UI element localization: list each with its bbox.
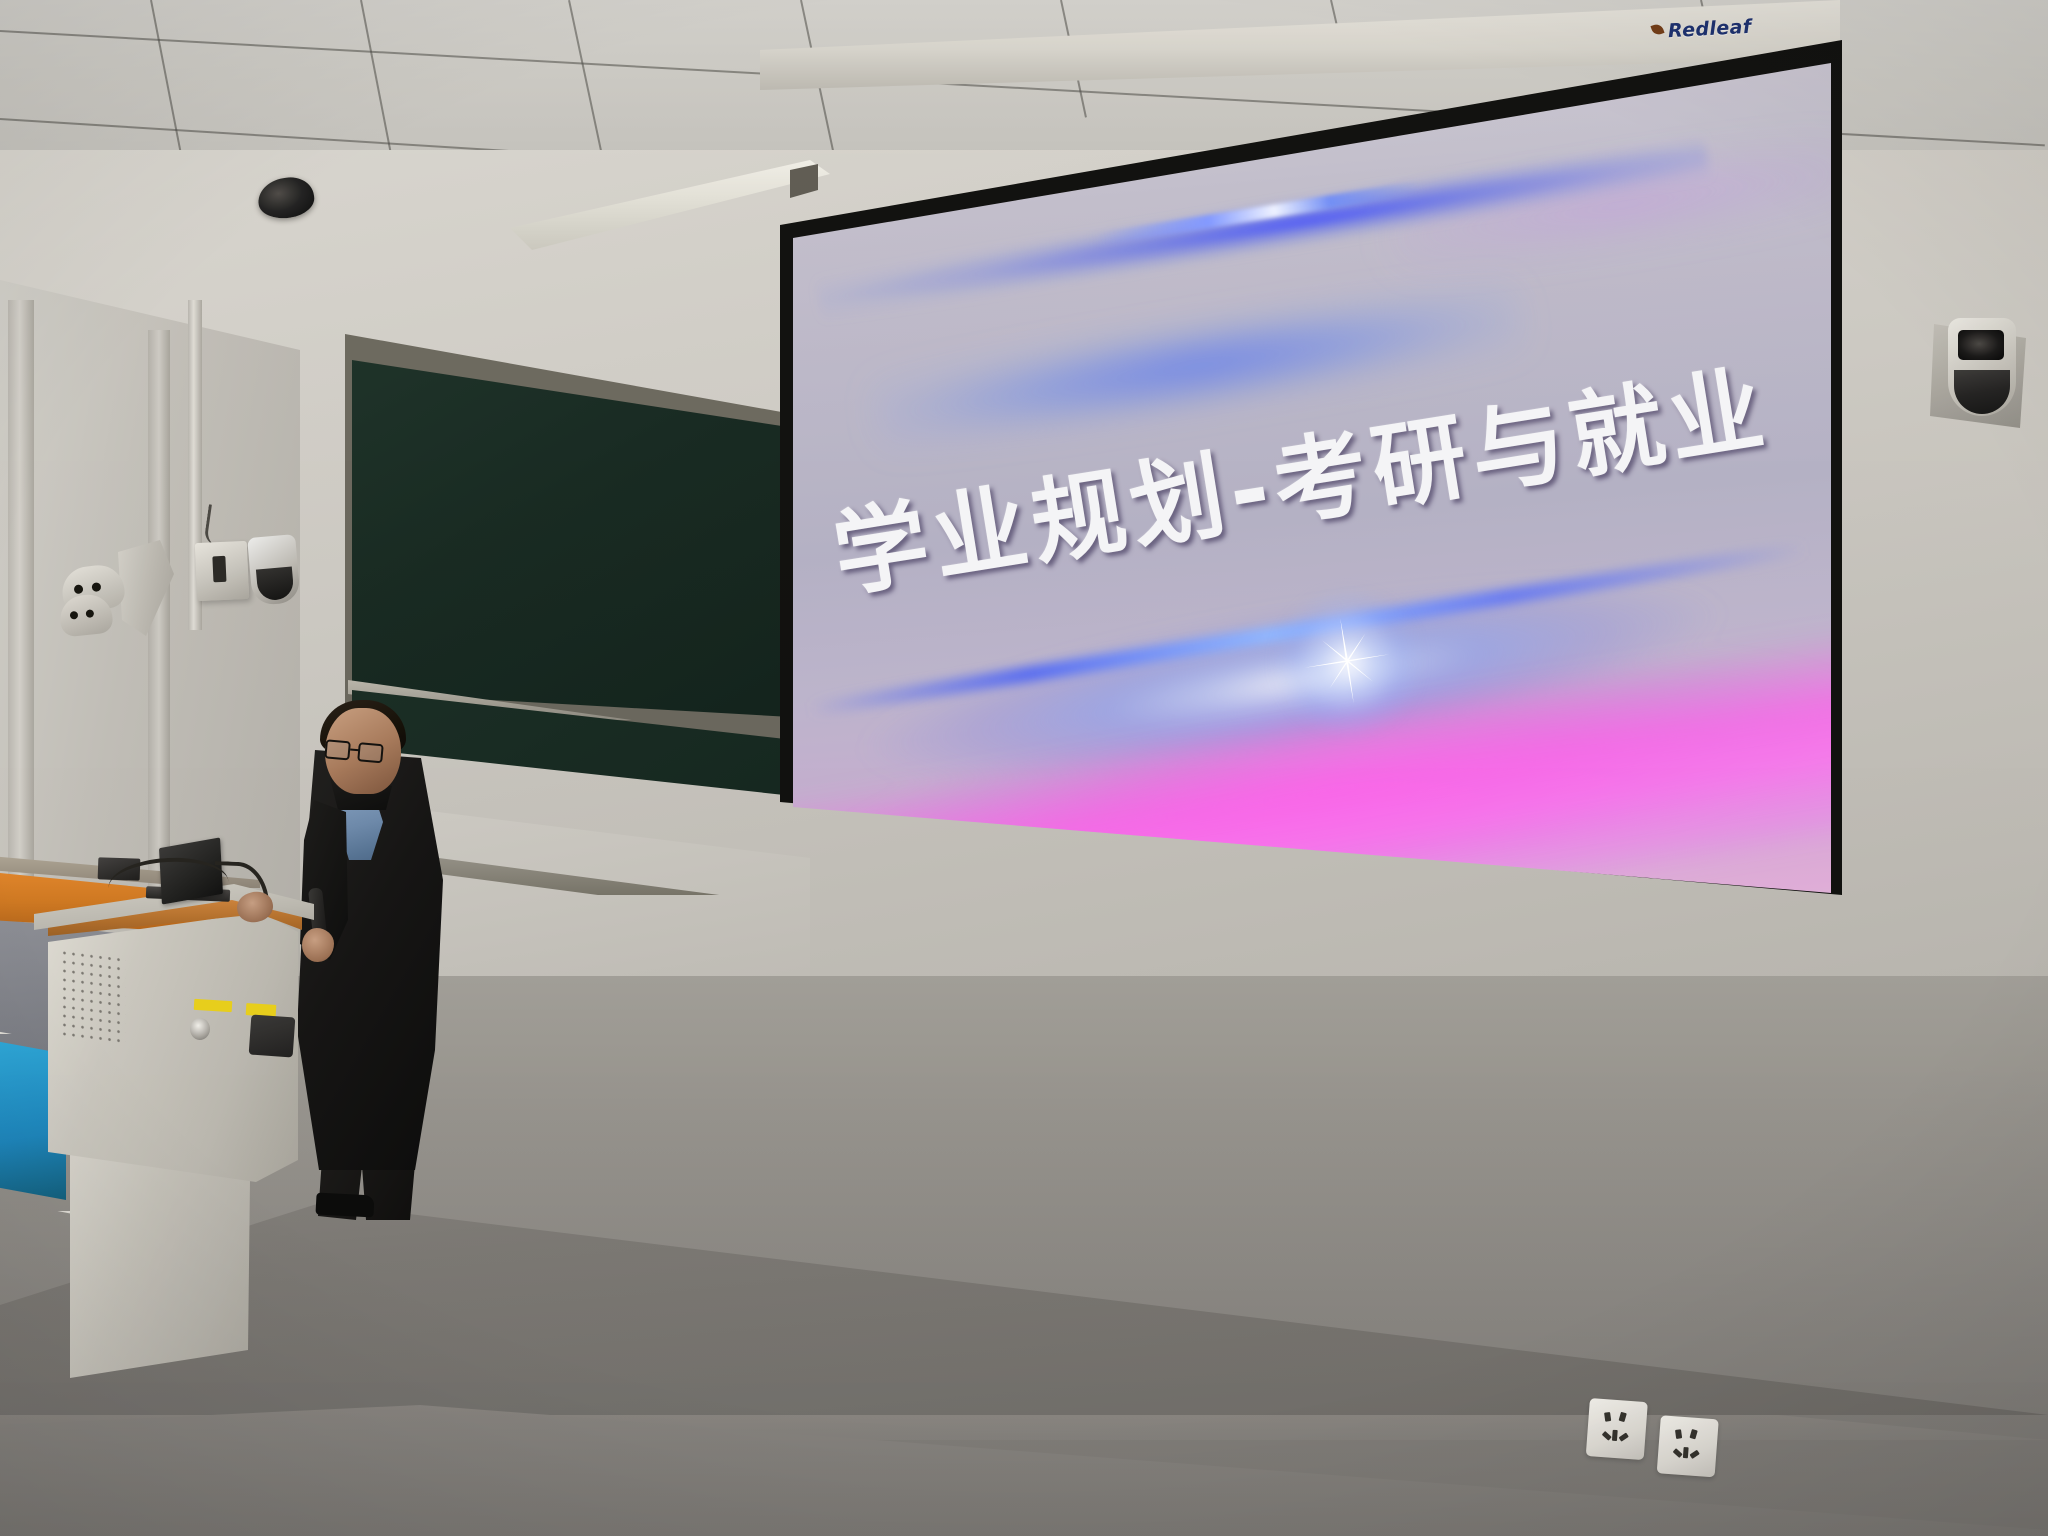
lectern-base — [70, 1148, 250, 1378]
camera-lens — [1958, 330, 2004, 360]
wall-camera-icon — [1930, 318, 2028, 430]
power-socket[interactable] — [1586, 1398, 1648, 1460]
lectern-vent-grille — [60, 948, 126, 1048]
speaker-shoe — [315, 1192, 374, 1217]
slide-starburst-icon — [1294, 608, 1399, 713]
electrical-box-icon — [195, 541, 249, 601]
lectern-warning-label — [194, 999, 233, 1012]
lecture-hall-photo: Redleaf 学业规划-考研与就业 — [0, 0, 2048, 1536]
switch-toggle[interactable] — [212, 556, 226, 583]
screen-brand-label: Redleaf — [1667, 16, 1752, 42]
lectern-control-panel[interactable] — [249, 1015, 296, 1058]
wall-camera-icon — [247, 534, 301, 606]
power-socket[interactable] — [1657, 1415, 1719, 1477]
